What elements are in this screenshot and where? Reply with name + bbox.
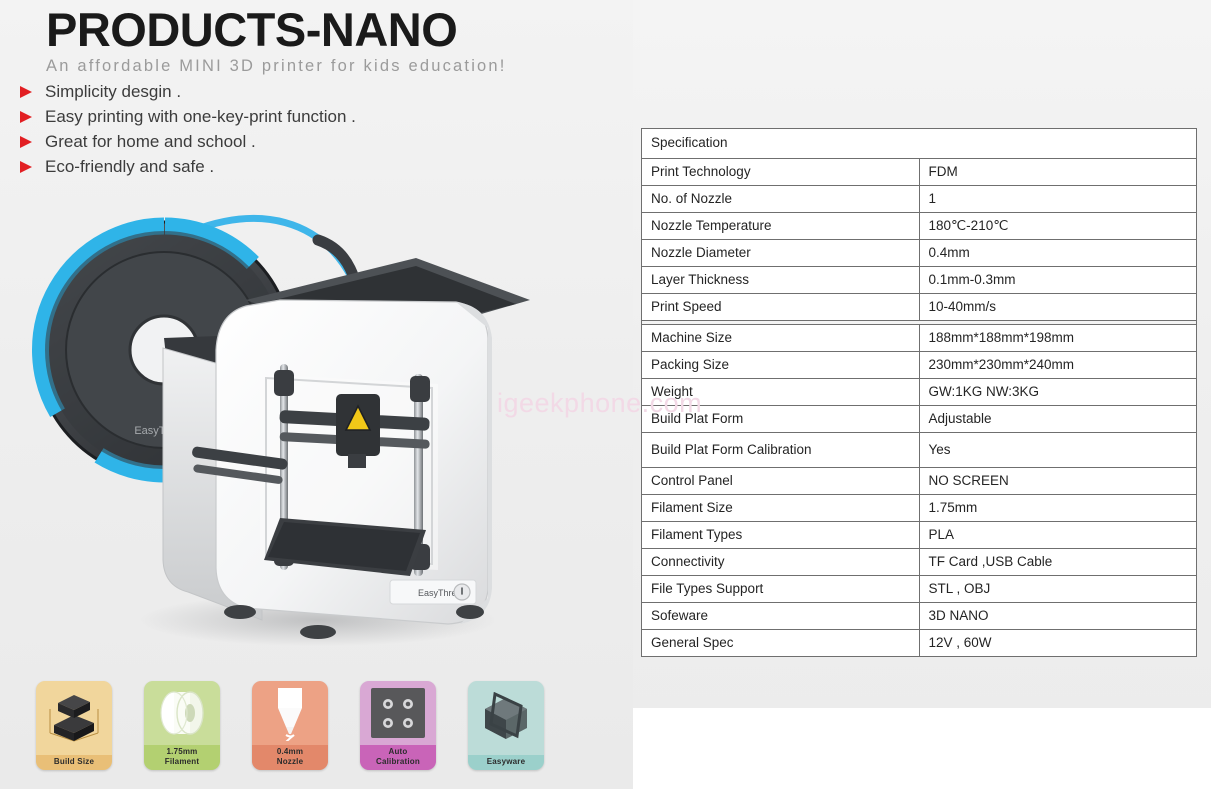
badge-art [36,681,112,755]
spec-value: STL , OBJ [919,576,1197,603]
table-row: Print TechnologyFDM [642,159,1197,186]
badge-art [252,681,328,745]
feature-label: Eco-friendly and safe . [45,156,214,178]
table-row: Filament Size1.75mm [642,495,1197,522]
spec-value: PLA [919,522,1197,549]
table-row: Nozzle Temperature180℃-210℃ [642,213,1197,240]
page-subtitle: An affordable MINI 3D printer for kids e… [46,56,606,76]
build-size-cubes-icon [44,691,104,745]
badge-label-line1: Auto [361,747,435,757]
spec-value: Adjustable [919,406,1197,433]
feature-label: Simplicity desgin . [45,81,181,103]
spec-value: 0.1mm-0.3mm [919,267,1197,294]
spec-key: Sofeware [642,603,920,630]
header: PRODUCTS-NANO An affordable MINI 3D prin… [46,4,606,76]
spec-value: 180℃-210℃ [919,213,1197,240]
page-title: PRODUCTS-NANO [46,4,606,56]
spec-key: Packing Size [642,352,920,379]
feature-label: Great for home and school . [45,131,256,153]
bullet-arrow-icon [18,160,34,174]
spec-key: Filament Types [642,522,920,549]
table-row: ConnectivityTF Card ,USB Cable [642,549,1197,576]
badge-label-line1: 0.4mm [253,747,327,757]
badge-label: 0.4mmNozzle [252,745,328,770]
spec-value: 1 [919,186,1197,213]
spec-key: No. of Nozzle [642,186,920,213]
table-row: Sofeware3D NANO [642,603,1197,630]
spec-key: Layer Thickness [642,267,920,294]
badge-build-size-cubes[interactable]: Build Size [36,681,112,770]
spec-key: Machine Size [642,325,920,352]
badge-label-line2: Filament [145,757,219,767]
spec-value: 230mm*230mm*240mm [919,352,1197,379]
table-row: Control PanelNO SCREEN [642,468,1197,495]
badge-label: Easyware [468,755,544,770]
filament-spool-icon [152,687,212,739]
spec-value: FDM [919,159,1197,186]
feature-item: Great for home and school . [18,130,598,153]
table-row: Print Speed10-40mm/s [642,294,1197,321]
table-row: Machine Size188mm*188mm*198mm [642,325,1197,352]
feature-badge-row: Build Size1.75mmFilament0.4mmNozzleAutoC… [36,681,616,773]
bottom-white-area [633,708,1211,789]
badge-auto-calibration[interactable]: AutoCalibration [360,681,436,770]
badge-label-line1: 1.75mm [145,747,219,757]
spec-value: 10-40mm/s [919,294,1197,321]
printer-illustration: EasyThreed [18,188,598,658]
badge-art [360,681,436,745]
badge-nozzle[interactable]: 0.4mmNozzle [252,681,328,770]
spec-key: Nozzle Diameter [642,240,920,267]
badge-label-line2: Calibration [361,757,435,767]
feature-item: Eco-friendly and safe . [18,155,598,178]
bullet-arrow-icon [18,110,34,124]
badge-filament-spool[interactable]: 1.75mmFilament [144,681,220,770]
spec-key: Weight [642,379,920,406]
specification-table: SpecificationPrint TechnologyFDMNo. of N… [641,128,1197,657]
spec-key: File Types Support [642,576,920,603]
spec-value: Yes [919,433,1197,468]
badge-label: AutoCalibration [360,745,436,770]
spec-key: Connectivity [642,549,920,576]
table-row: Packing Size230mm*230mm*240mm [642,352,1197,379]
spec-value: 0.4mm [919,240,1197,267]
table-row: Build Plat Form CalibrationYes [642,433,1197,468]
spec-value: 3D NANO [919,603,1197,630]
spec-value: 188mm*188mm*198mm [919,325,1197,352]
table-row: Layer Thickness0.1mm-0.3mm [642,267,1197,294]
easyware-cube-icon [477,692,535,744]
table-row: File Types SupportSTL , OBJ [642,576,1197,603]
badge-label-line1: Easyware [469,757,543,767]
spec-value: 1.75mm [919,495,1197,522]
badge-label-line2: Nozzle [253,757,327,767]
auto-calibration-icon [369,686,427,740]
spec-value: 12V , 60W [919,630,1197,657]
spec-key: Print Technology [642,159,920,186]
badge-easyware-cube[interactable]: Easyware [468,681,544,770]
specification-table-container: SpecificationPrint TechnologyFDMNo. of N… [641,128,1197,657]
printer-product-image: EasyThreed [18,188,598,658]
badge-label: Build Size [36,755,112,770]
badge-label-line1: Build Size [37,757,111,767]
bullet-arrow-icon [18,85,34,99]
table-header-label: Specification [642,129,1197,159]
spec-value: TF Card ,USB Cable [919,549,1197,576]
table-row: Nozzle Diameter0.4mm [642,240,1197,267]
bullet-arrow-icon [18,135,34,149]
table-header-row: Specification [642,129,1197,159]
spec-key: Nozzle Temperature [642,213,920,240]
table-row: No. of Nozzle1 [642,186,1197,213]
table-row: WeightGW:1KG NW:3KG [642,379,1197,406]
table-row: General Spec12V , 60W [642,630,1197,657]
badge-art [144,681,220,745]
nozzle-icon [264,685,316,741]
spec-key: Build Plat Form [642,406,920,433]
spec-value: GW:1KG NW:3KG [919,379,1197,406]
feature-item: Easy printing with one-key-print functio… [18,105,598,128]
spec-key: Print Speed [642,294,920,321]
spec-key: Control Panel [642,468,920,495]
feature-label: Easy printing with one-key-print functio… [45,106,356,128]
feature-list: Simplicity desgin .Easy printing with on… [18,80,598,180]
table-row: Build Plat FormAdjustable [642,406,1197,433]
badge-label: 1.75mmFilament [144,745,220,770]
badge-art [468,681,544,755]
spec-key: General Spec [642,630,920,657]
spec-value: NO SCREEN [919,468,1197,495]
spec-key: Filament Size [642,495,920,522]
table-row: Filament TypesPLA [642,522,1197,549]
feature-item: Simplicity desgin . [18,80,598,103]
spec-key: Build Plat Form Calibration [642,433,920,468]
